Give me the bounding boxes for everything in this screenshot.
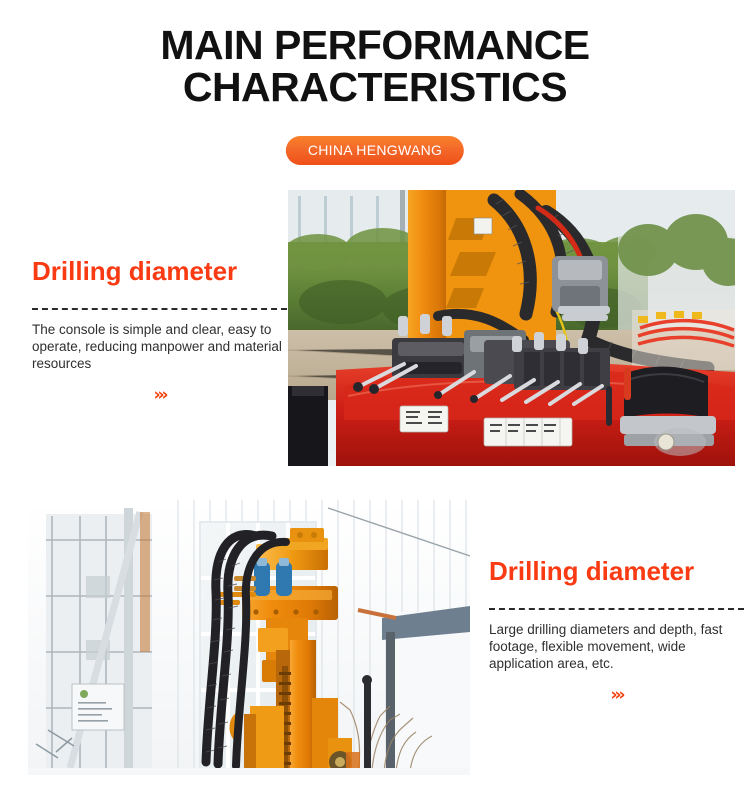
feature-divider	[489, 608, 744, 610]
page-header: MAIN PERFORMANCE CHARACTERISTICS CHINA H…	[0, 0, 750, 180]
feature-body: Large drilling diameters and depth, fast…	[489, 621, 744, 672]
photo-drill-rig-mast	[28, 500, 470, 775]
brand-badge: CHINA HENGWANG	[286, 136, 464, 165]
feature-block-console: Drilling diameter The console is simple …	[32, 256, 287, 404]
feature-block-diameter: Drilling diameter Large drilling diamete…	[489, 556, 744, 704]
page-title: MAIN PERFORMANCE CHARACTERISTICS	[0, 24, 750, 108]
feature-divider	[32, 308, 287, 310]
photo-control-valves	[288, 190, 735, 466]
chevron-right-icon: »›	[489, 686, 744, 704]
feature-title: Drilling diameter	[489, 556, 744, 586]
chevron-right-icon: »›	[32, 386, 287, 404]
photo-drill-rig-mast-graphic	[28, 500, 470, 775]
feature-body: The console is simple and clear, easy to…	[32, 321, 287, 372]
feature-title: Drilling diameter	[32, 256, 287, 286]
photo-control-valves-graphic	[288, 190, 735, 466]
